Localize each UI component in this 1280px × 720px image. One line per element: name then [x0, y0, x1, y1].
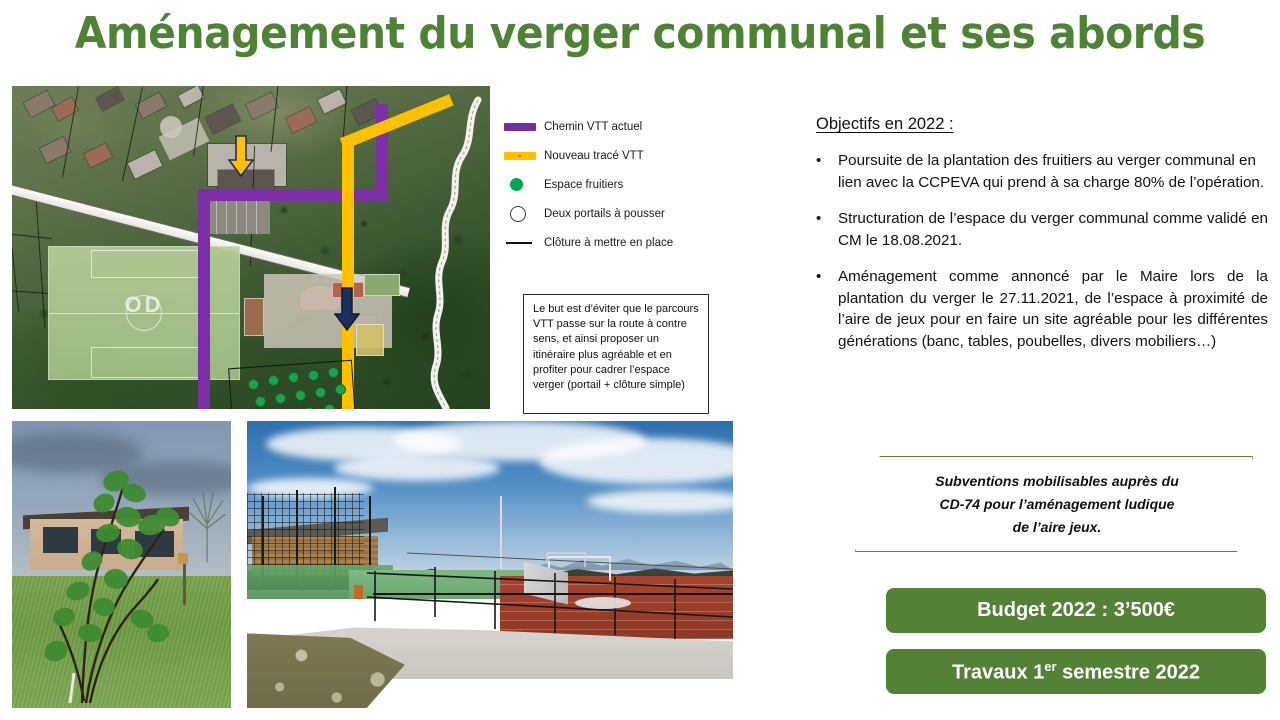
field-marking-label: OD	[125, 292, 164, 318]
map-court	[364, 274, 400, 296]
subventions-text: Subventions mobilisables auprès du CD-74…	[881, 470, 1233, 539]
objective-bullet-1: • Poursuite de la plantation des fruitie…	[816, 150, 1268, 193]
photo1-hazel-sapling	[12, 421, 231, 708]
legend-item-espace-fruitiers: Espace fruitiers	[504, 170, 714, 199]
explanation-note-box: Le but est d’éviter que le parcours VTT …	[523, 294, 709, 414]
legend-item-deux-portails: Deux portails à pousser	[504, 199, 714, 228]
field-penalty-box	[91, 250, 199, 278]
objective-bullet-2: • Structuration de l’espace du verger co…	[816, 208, 1268, 251]
white-circle-icon	[504, 206, 544, 222]
black-line-icon	[504, 242, 544, 244]
budget-banner[interactable]: Budget 2022 : 3’500€	[886, 588, 1266, 633]
map-fruit-tree	[275, 393, 286, 404]
yellow-line-icon	[504, 152, 544, 160]
map-fruit-tree	[295, 390, 306, 401]
photo2-fence-details	[247, 421, 733, 708]
bullet-icon: •	[816, 266, 838, 352]
map-court	[356, 324, 384, 356]
budget-banner-label: Budget 2022 : 3’500€	[977, 599, 1175, 622]
map-fruit-tree	[255, 396, 266, 407]
legend-item-nouveau-trace-vtt: Nouveau tracé VTT	[504, 141, 714, 170]
map-fruit-tree	[268, 375, 279, 386]
objectives-heading: Objectifs en 2022 :	[816, 115, 954, 134]
purple-line-icon	[504, 123, 544, 131]
map-fruit-tree	[324, 404, 335, 409]
map-fruit-tree	[288, 372, 299, 383]
works-superscript: er	[1044, 659, 1056, 674]
map-arrow-yellow-down	[228, 134, 254, 178]
note-text: Le but est d’éviter que le parcours VTT …	[533, 302, 700, 393]
objectives-list: • Poursuite de la plantation des fruitie…	[816, 150, 1268, 367]
legend-label: Espace fruitiers	[544, 179, 623, 191]
page-title: Aménagement du verger communal et ses ab…	[45, 8, 1235, 59]
map-football-field: OD	[48, 246, 240, 380]
photo1-content	[12, 421, 231, 708]
map-fruit-tree	[328, 367, 339, 378]
photo-playground-sports-area	[247, 421, 733, 708]
bullet-icon: •	[816, 150, 838, 193]
works-prefix: Travaux 1	[952, 661, 1044, 683]
objective-bullet-3: • Aménagement comme annoncé par le Maire…	[816, 266, 1268, 352]
map-winding-road	[370, 86, 490, 409]
aerial-map-image: OD	[12, 86, 490, 409]
bullet-icon: •	[816, 208, 838, 251]
legend-label: Deux portails à pousser	[544, 208, 665, 220]
photo2-content	[247, 421, 733, 708]
map-fruit-tree	[335, 384, 346, 395]
subventions-line-2: CD-74 pour l’aménagement ludique	[881, 493, 1233, 516]
legend-label: Clôture à mettre en place	[544, 237, 673, 249]
map-roundabout	[160, 116, 182, 138]
legend-label: Nouveau tracé VTT	[544, 150, 644, 162]
subventions-line-3: de l’aire jeux.	[881, 516, 1233, 539]
slide-root: Aménagement du verger communal et ses ab…	[0, 0, 1280, 720]
map-fruit-tree	[248, 379, 259, 390]
works-suffix: semestre 2022	[1057, 661, 1200, 683]
legend-label: Chemin VTT actuel	[544, 121, 642, 133]
map-route-current-vtt	[198, 189, 388, 201]
works-banner-label: Travaux 1er semestre 2022	[952, 659, 1200, 685]
map-fruit-tree	[308, 370, 319, 381]
map-legend: Chemin VTT actuel Nouveau tracé VTT Espa…	[504, 112, 714, 257]
map-route-current-vtt	[376, 104, 388, 196]
map-route-current-vtt	[198, 189, 210, 409]
green-dot-icon	[504, 178, 544, 191]
subventions-callout: Subventions mobilisables auprès du CD-74…	[855, 456, 1253, 552]
map-route-new-vtt	[342, 142, 354, 200]
field-penalty-box	[91, 347, 199, 378]
map-arrow-dark-down	[334, 286, 360, 332]
legend-item-cloture: Clôture à mettre en place	[504, 228, 714, 257]
map-fruit-tree	[315, 387, 326, 398]
objective-text: Structuration de l’espace du verger comm…	[838, 208, 1268, 251]
subventions-line-1: Subventions mobilisables auprès du	[881, 470, 1233, 493]
objective-text: Poursuite de la plantation des fruitiers…	[838, 150, 1268, 193]
legend-item-chemin-vtt-actuel: Chemin VTT actuel	[504, 112, 714, 141]
photo-young-hazel-tree	[12, 421, 231, 708]
works-schedule-banner[interactable]: Travaux 1er semestre 2022	[886, 649, 1266, 694]
map-court	[244, 298, 264, 336]
objective-text: Aménagement comme annoncé par le Maire l…	[838, 266, 1268, 352]
